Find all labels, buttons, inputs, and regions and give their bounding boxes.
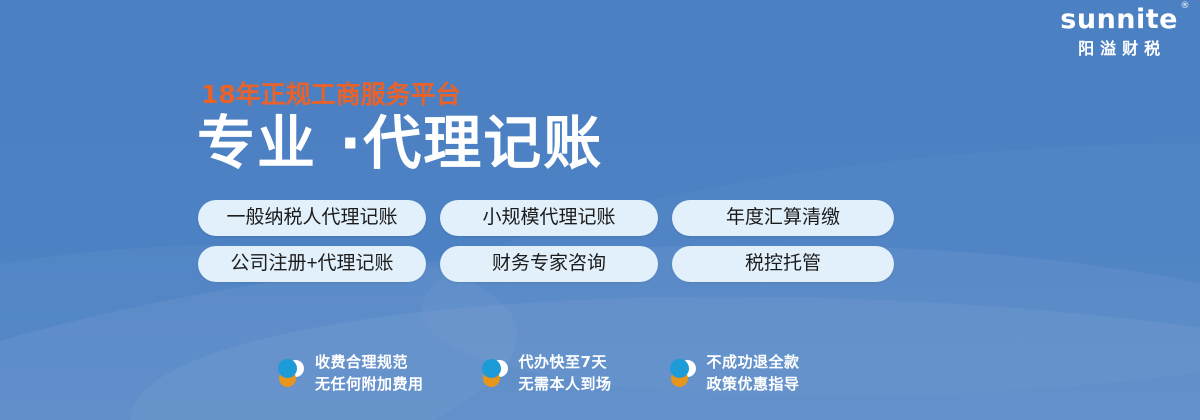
- dot-shape: [482, 359, 501, 378]
- feature-line-2: 无任何附加费用: [315, 374, 424, 396]
- eclipse-dot-icon: [276, 358, 306, 390]
- service-pill-row-2: 公司注册+代理记账 财务专家咨询 税控托管: [198, 246, 894, 282]
- feature-line-2: 政策优惠指导: [707, 374, 800, 396]
- promo-banner: sunnite® 阳溢财税 18年正规工商服务平台 专业 ·代理记账 一般纳税人…: [0, 0, 1200, 420]
- dot-shape: [278, 359, 297, 378]
- service-pill-small-scale[interactable]: 小规模代理记账: [440, 200, 658, 236]
- logo-wordmark: sunnite®: [1060, 6, 1178, 33]
- logo-subtitle: 阳溢财税: [1060, 42, 1178, 58]
- service-pill-grid: 一般纳税人代理记账 小规模代理记账 年度汇算清缴 公司注册+代理记账 财务专家咨…: [198, 200, 894, 292]
- service-pill-general-taxpayer[interactable]: 一般纳税人代理记账: [198, 200, 426, 236]
- feature-item-pricing: 收费合理规范 无任何附加费用: [276, 352, 424, 396]
- feature-line-2: 无需本人到场: [519, 374, 612, 396]
- feature-item-guarantee: 不成功退全款 政策优惠指导: [668, 352, 800, 396]
- feature-line-1: 收费合理规范: [315, 352, 424, 374]
- eclipse-dot-icon: [668, 358, 698, 390]
- service-pill-tax-control-hosting[interactable]: 税控托管: [672, 246, 894, 282]
- feature-text-guarantee: 不成功退全款 政策优惠指导: [707, 352, 800, 396]
- registered-trademark-icon: ®: [1181, 2, 1191, 11]
- feature-line-1: 不成功退全款: [707, 352, 800, 374]
- service-pill-row-1: 一般纳税人代理记账 小规模代理记账 年度汇算清缴: [198, 200, 894, 236]
- feature-line-1: 代办快至7天: [519, 352, 612, 374]
- brand-logo[interactable]: sunnite® 阳溢财税: [1060, 6, 1178, 58]
- dot-shape: [670, 359, 689, 378]
- eclipse-dot-icon: [480, 358, 510, 390]
- feature-text-speed: 代办快至7天 无需本人到场: [519, 352, 612, 396]
- hero-headline: 专业 ·代理记账: [197, 113, 603, 174]
- feature-item-speed: 代办快至7天 无需本人到场: [480, 352, 612, 396]
- feature-list: 收费合理规范 无任何附加费用 代办快至7天 无需本人到场 不成功退全款: [276, 352, 800, 396]
- service-pill-annual-settlement[interactable]: 年度汇算清缴: [672, 200, 894, 236]
- feature-text-pricing: 收费合理规范 无任何附加费用: [315, 352, 424, 396]
- service-pill-finance-consulting[interactable]: 财务专家咨询: [440, 246, 658, 282]
- hero-kicker: 18年正规工商服务平台: [201, 75, 461, 111]
- service-pill-company-registration[interactable]: 公司注册+代理记账: [198, 246, 426, 282]
